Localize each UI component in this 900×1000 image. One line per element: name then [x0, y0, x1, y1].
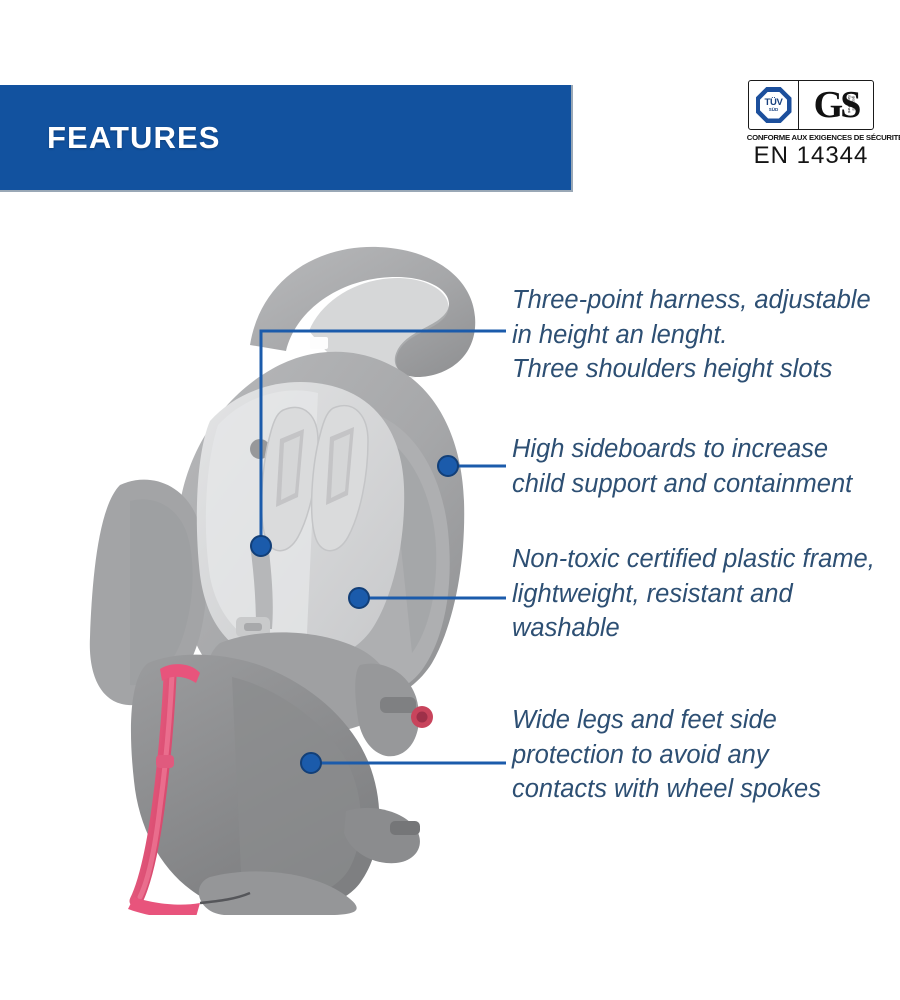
callout-line: Wide legs and feet side: [512, 703, 821, 738]
callout-line: Three shoulders height slots: [512, 352, 871, 387]
callout-line: Three-point harness, adjustable: [512, 283, 871, 318]
gs-sub-label: geprüfte Sicherheit: [847, 87, 856, 120]
callout-line: lightweight, resistant and: [512, 577, 875, 612]
conformity-text: CONFORME AUX EXIGENCES DE SÉCURITÉ: [747, 133, 876, 142]
tuv-label: TÜV: [764, 98, 782, 108]
callout-text-sideboards: High sideboards to increase child suppor…: [512, 432, 852, 501]
page-title: FEATURES: [0, 120, 221, 156]
callout-line: washable: [512, 611, 875, 646]
callout-line: child support and containment: [512, 467, 852, 502]
certification-block: TÜV SÜD GS geprüfte Sicherheit CONFORME …: [748, 80, 874, 168]
callout-line: in height an lenght.: [512, 318, 871, 353]
callout-line: Non-toxic certified plastic frame,: [512, 542, 875, 577]
standard-number: EN 14344: [748, 143, 874, 168]
certification-marks: TÜV SÜD GS geprüfte Sicherheit: [748, 80, 874, 130]
callout-text-harness: Three-point harness, adjustable in heigh…: [512, 283, 871, 387]
tuv-octagon-inner: TÜV SÜD: [760, 92, 787, 119]
gs-mark-wrap: GS geprüfte Sicherheit: [814, 87, 859, 123]
callout-line: High sideboards to increase: [512, 432, 852, 467]
features-banner: FEATURES: [0, 85, 573, 192]
callout-line: protection to avoid any: [512, 738, 821, 773]
callout-line: contacts with wheel spokes: [512, 772, 821, 807]
tuv-sub-label: SÜD: [769, 108, 779, 113]
gs-mark-icon: GS geprüfte Sicherheit: [799, 81, 873, 129]
tuv-octagon-icon: TÜV SÜD: [756, 87, 792, 123]
callout-text-plastic-frame: Non-toxic certified plastic frame, light…: [512, 542, 875, 646]
product-image: [60, 225, 520, 915]
tuv-sud-logo-icon: TÜV SÜD: [749, 81, 799, 129]
callout-text-leg-protection: Wide legs and feet side protection to av…: [512, 703, 821, 807]
